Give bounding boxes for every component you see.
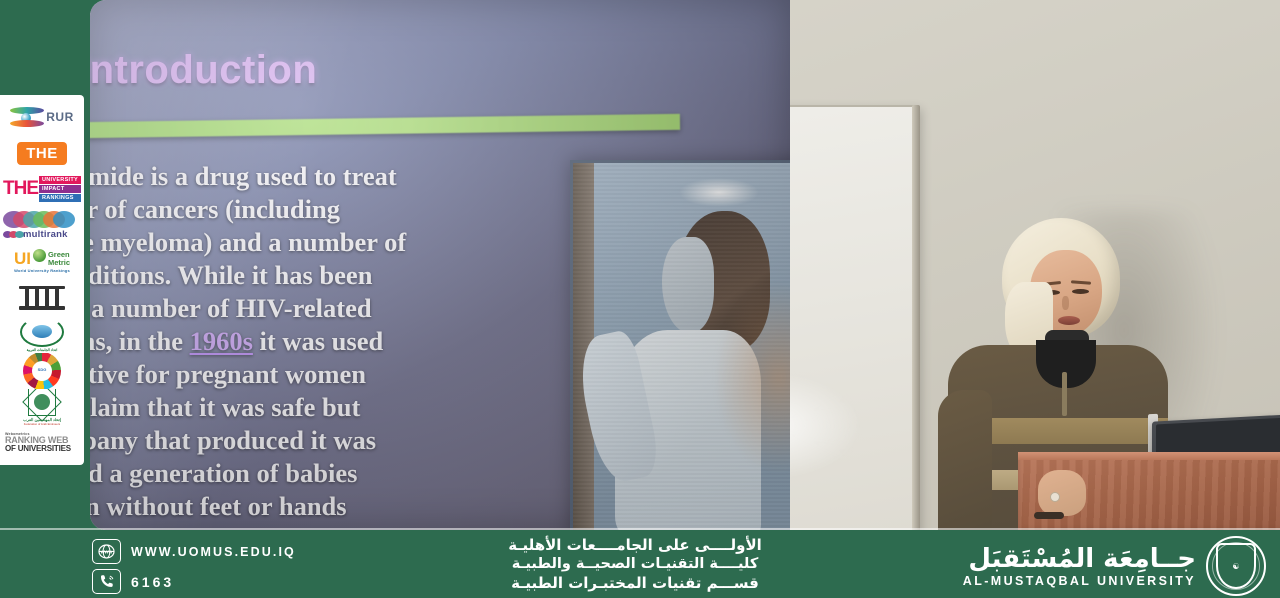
sdg-center-label: SDG — [32, 361, 52, 381]
slide-line-suffix: it was used — [253, 326, 383, 356]
contact-block: www WWW.UOMUS.EDU.IQ 6163 — [92, 539, 296, 594]
accreditation-logo-card: RUR THE THE UNIVERSITY IMPACT RANKINGS — [0, 95, 84, 465]
slide-line-prefix: ions, in the — [90, 326, 190, 356]
rur-label: RUR — [46, 110, 74, 124]
presenter-mouth — [1058, 316, 1080, 325]
presenter-zipper — [1062, 372, 1067, 416]
arab-engineers-star-icon — [28, 389, 56, 416]
logo-ui-greenmetric: UI Green Metric World University Ranking… — [3, 244, 81, 280]
multirank-mini-dots — [3, 231, 21, 238]
sdg-wheel-icon: SDG — [23, 353, 61, 389]
logo-u-multirank: multirank — [3, 208, 81, 244]
photo-film-grain — [573, 163, 790, 530]
pillars-icon — [19, 286, 65, 310]
multirank-discs-icon — [3, 211, 81, 228]
slide-title: Introduction — [90, 48, 317, 93]
event-photo: Introduction domide is a drug used to tr… — [90, 0, 1280, 530]
presenter-hand — [1038, 470, 1086, 516]
greenmetric-ui-label: UI — [14, 250, 31, 267]
logo-association-of-arab-universities: اتحاد الجامعات العربية — [3, 316, 81, 352]
the-impact-label: THE — [3, 176, 38, 202]
greenmetric-globe-icon — [33, 249, 46, 262]
the-label: THE — [17, 142, 67, 165]
slide-vintage-photo — [570, 160, 790, 530]
website-row[interactable]: www WWW.UOMUS.EDU.IQ — [92, 539, 296, 564]
presentation-photo-card: Introduction domide is a drug used to tr… — [0, 0, 1280, 598]
podium-top-edge — [1018, 452, 1280, 460]
presenter-bracelet — [1034, 512, 1064, 519]
slide-body-text: domide is a drug used to treat ber of ca… — [90, 160, 470, 523]
projected-slide: Introduction domide is a drug used to tr… — [90, 0, 790, 530]
slide-body-line: ber of cancers (including — [90, 193, 470, 226]
bottom-banner: www WWW.UOMUS.EDU.IQ 6163 الأولــــى على… — [0, 530, 1280, 598]
logo-rur: RUR — [3, 99, 81, 135]
brand-name-arabic: جــامِعَة المُسْتَقبَل — [963, 544, 1196, 574]
slide-body-line: and a generation of babies — [90, 457, 470, 490]
phone-number: 6163 — [131, 574, 174, 590]
slide-body-line: or a number of HIV-related — [90, 292, 470, 325]
logo-federation-of-arab-engineers: إتحاد المهندسين العرب Federation of Arab… — [3, 389, 81, 425]
presenter-eye-right — [1072, 289, 1089, 294]
slide-body-line: domide is a drug used to treat — [90, 160, 470, 193]
greenmetric-subtitle: World University Rankings — [14, 268, 70, 273]
logo-sdg-wheel: SDG — [3, 353, 81, 389]
arab-universities-wreath-icon — [20, 317, 64, 347]
slide-body-line: orn without feet or hands — [90, 490, 470, 523]
brand-name-english: AL-MUSTAQBAL UNIVERSITY — [963, 574, 1196, 588]
logo-the-impact-rankings: THE UNIVERSITY IMPACT RANKINGS — [3, 171, 81, 207]
website-url: WWW.UOMUS.EDU.IQ — [131, 545, 296, 559]
rur-eye-icon — [10, 107, 44, 127]
slide-body-line-highlighted: ions, in the 1960s it was used — [90, 325, 470, 358]
phone-icon — [92, 569, 121, 594]
svg-text:www: www — [100, 549, 113, 555]
presenter-ring — [1050, 492, 1060, 502]
arabic-line-college: كليــــة التقنيـات الصحيــة والطبيـة — [420, 555, 850, 574]
impact-line-university: UNIVERSITY — [39, 176, 81, 184]
presenter-nose — [1062, 296, 1069, 310]
arab-universities-label: اتحاد الجامعات العربية — [27, 348, 58, 352]
webometrics-line-of-universities: OF UNIVERSITIES — [5, 445, 71, 453]
university-shield-emblem: ☯ — [1206, 536, 1266, 596]
phone-row[interactable]: 6163 — [92, 569, 296, 594]
slide-body-line: mpany that produced it was — [90, 424, 470, 457]
impact-line-rankings: RANKINGS — [39, 194, 81, 202]
globe-www-icon: www — [92, 539, 121, 564]
impact-line-impact: IMPACT — [39, 185, 81, 193]
slide-highlight-1960s: 1960s — [190, 326, 253, 356]
arabic-line-first-private-universities: الأولــــى على الجامــــعات الأهليـة — [420, 536, 850, 555]
presenter-arm — [938, 390, 992, 530]
logo-pillars-accreditation — [3, 280, 81, 316]
presenter — [910, 0, 1280, 530]
logo-webometrics: Webometrics RANKING WEB OF UNIVERSITIES — [3, 425, 81, 461]
arabic-line-department: قســـم تقنيات المختبـرات الطبيـة — [420, 574, 850, 593]
greenmetric-line-metric: Metric — [48, 259, 70, 267]
university-brand: جــامِعَة المُسْتَقبَل AL-MUSTAQBAL UNIV… — [963, 536, 1266, 596]
slide-body-line: onditions. While it has been — [90, 259, 470, 292]
slide-body-line: ple myeloma) and a number of — [90, 226, 470, 259]
slide-body-line: dative for pregnant women — [90, 358, 470, 391]
multirank-label: multirank — [23, 229, 68, 240]
slide-body-line: e claim that it was safe but — [90, 391, 470, 424]
faculty-arabic-block: الأولــــى على الجامــــعات الأهليـة كلي… — [420, 536, 850, 593]
logo-times-higher-education: THE — [3, 135, 81, 171]
